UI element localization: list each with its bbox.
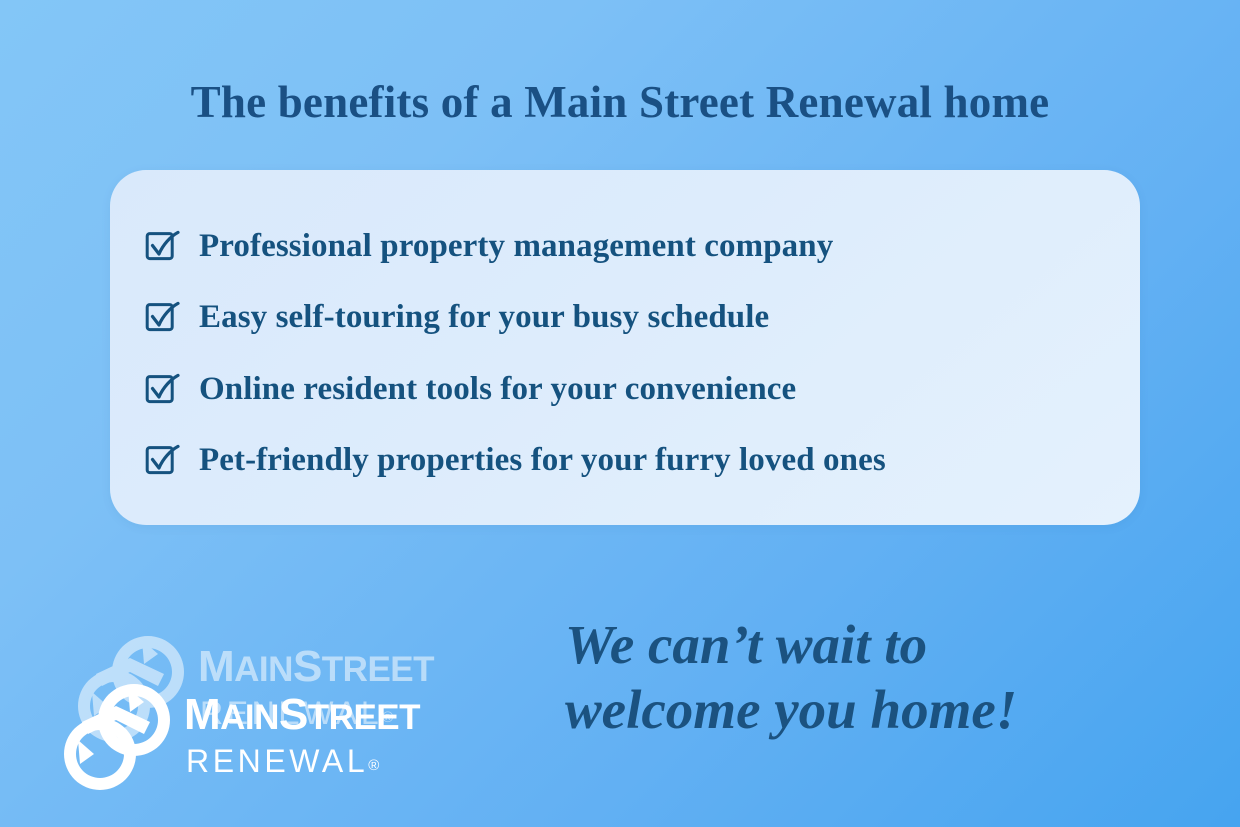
logo-letter-m: M [184,690,220,739]
checkbox-checked-icon [145,372,179,406]
logo-renewal-text: RENEWAL [186,743,368,779]
logo-letter-s: S [279,690,308,739]
tagline-line-1: We can’t wait to [565,612,1185,677]
benefit-label: Pet-friendly properties for your furry l… [199,441,886,479]
benefit-label: Online resident tools for your convenien… [199,370,796,408]
promo-graphic: { "header": { "title": "The benefits of … [0,0,1240,827]
logo-wordmark-sub: RENEWAL® [184,743,420,784]
mainstreet-renewal-swirl-icon [58,678,176,796]
registered-mark-icon: ® [368,757,379,774]
list-item: Easy self-touring for your busy schedule [145,282,1120,354]
logo-lockup[interactable]: MAINSTREET RENEWAL® [58,678,420,796]
list-item: Pet-friendly properties for your furry l… [145,425,1120,497]
logo-letters-treet: TREET [308,698,420,737]
checkbox-checked-icon [145,300,179,334]
list-item: Online resident tools for your convenien… [145,353,1120,425]
checkbox-checked-icon [145,443,179,477]
page-title: The benefits of a Main Street Renewal ho… [0,72,1240,132]
benefit-label: Professional property management company [199,227,833,265]
tagline: We can’t wait to welcome you home! [565,612,1185,742]
logo-wordmark-main: MAINSTREET [184,692,420,741]
list-item: Professional property management company [145,210,1120,282]
logo-wordmark: MAINSTREET RENEWAL® [184,690,420,784]
benefits-card: Professional property management company… [110,170,1140,525]
tagline-line-2: welcome you home! [565,677,1185,742]
benefit-label: Easy self-touring for your busy schedule [199,298,769,336]
logo-letters-ain: AIN [220,698,279,737]
benefits-list: Professional property management company… [145,210,1120,496]
checkbox-checked-icon [145,229,179,263]
